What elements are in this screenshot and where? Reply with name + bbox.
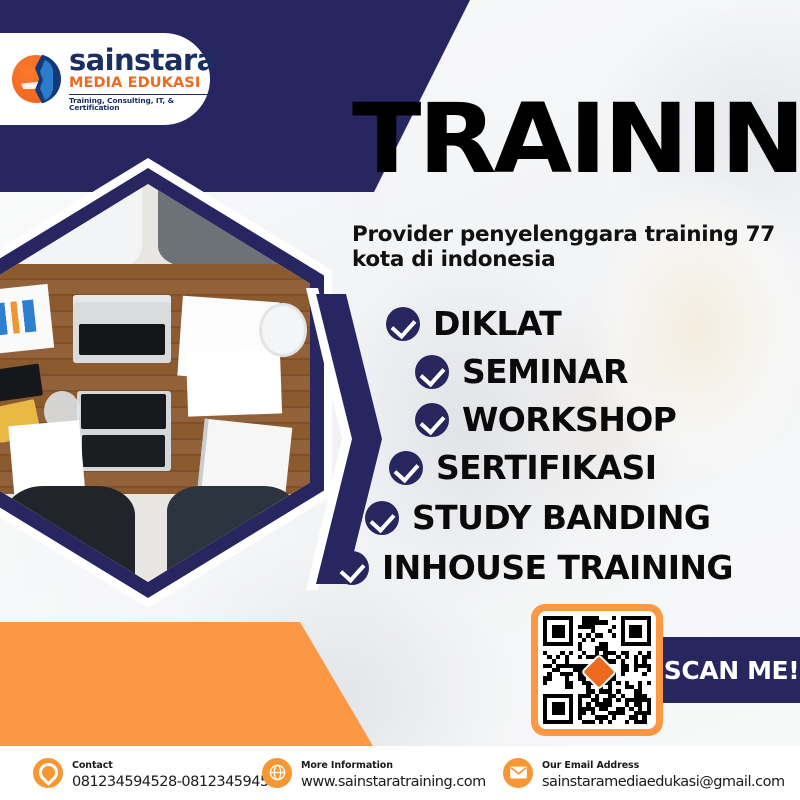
list-item: DIKLAT xyxy=(386,304,561,343)
sainstara-flame-boat-icon xyxy=(12,55,60,103)
list-item: SEMINAR xyxy=(415,352,628,391)
service-label: DIKLAT xyxy=(433,304,561,343)
service-label: INHOUSE TRAINING xyxy=(382,548,733,587)
footer-contact-phone[interactable]: Contact 081234594528-081234594527 xyxy=(33,756,286,790)
check-circle-icon xyxy=(386,307,420,341)
check-circle-icon xyxy=(389,451,423,485)
check-circle-icon xyxy=(365,501,399,535)
brand-logo: sainstara MEDIA EDUKASI Training, Consul… xyxy=(12,46,216,111)
footer-email[interactable]: Our Email Address sainstaramediaedukasi@… xyxy=(503,756,785,790)
qr-code[interactable] xyxy=(531,604,663,736)
globe-icon xyxy=(262,758,292,788)
phone-icon xyxy=(33,758,63,788)
mail-icon xyxy=(503,758,533,788)
check-circle-icon xyxy=(335,551,369,585)
service-label: SEMINAR xyxy=(462,352,628,391)
page-title: TRAINING xyxy=(352,95,800,183)
service-label: SERTIFIKASI xyxy=(436,448,656,487)
footer-label: Our Email Address xyxy=(542,760,639,771)
service-label: WORKSHOP xyxy=(462,400,676,439)
scan-me-button[interactable]: SCAN ME! xyxy=(663,637,800,703)
footer-value: sainstaramediaedukasi@gmail.com xyxy=(542,775,785,790)
logo-tagline: Training, Consulting, IT, & Certificatio… xyxy=(69,94,216,112)
footer-contact-bar: Contact 081234594528-081234594527 More I… xyxy=(0,746,800,800)
list-item: INHOUSE TRAINING xyxy=(335,548,733,587)
check-circle-icon xyxy=(415,355,449,389)
service-label: STUDY BANDING xyxy=(412,498,710,537)
footer-label: More Information xyxy=(301,760,393,771)
logo-name: sainstara xyxy=(69,46,216,75)
footer-value: 081234594528-081234594527 xyxy=(72,775,286,790)
scan-me-label: SCAN ME! xyxy=(664,656,799,685)
list-item: SERTIFIKASI xyxy=(389,448,656,487)
page-subtitle: Provider penyelenggara training 77 kota … xyxy=(352,222,792,272)
check-circle-icon xyxy=(415,403,449,437)
logo-plate: sainstara MEDIA EDUKASI Training, Consul… xyxy=(0,33,210,125)
list-item: STUDY BANDING xyxy=(365,498,710,537)
footer-website[interactable]: More Information www.sainstaratraining.c… xyxy=(262,756,486,790)
footer-label: Contact xyxy=(72,760,113,771)
logo-subtitle: MEDIA EDUKASI xyxy=(69,76,216,91)
footer-value: www.sainstaratraining.com xyxy=(301,775,486,790)
list-item: WORKSHOP xyxy=(415,400,676,439)
training-flyer-poster: sainstara MEDIA EDUKASI Training, Consul… xyxy=(0,0,800,800)
